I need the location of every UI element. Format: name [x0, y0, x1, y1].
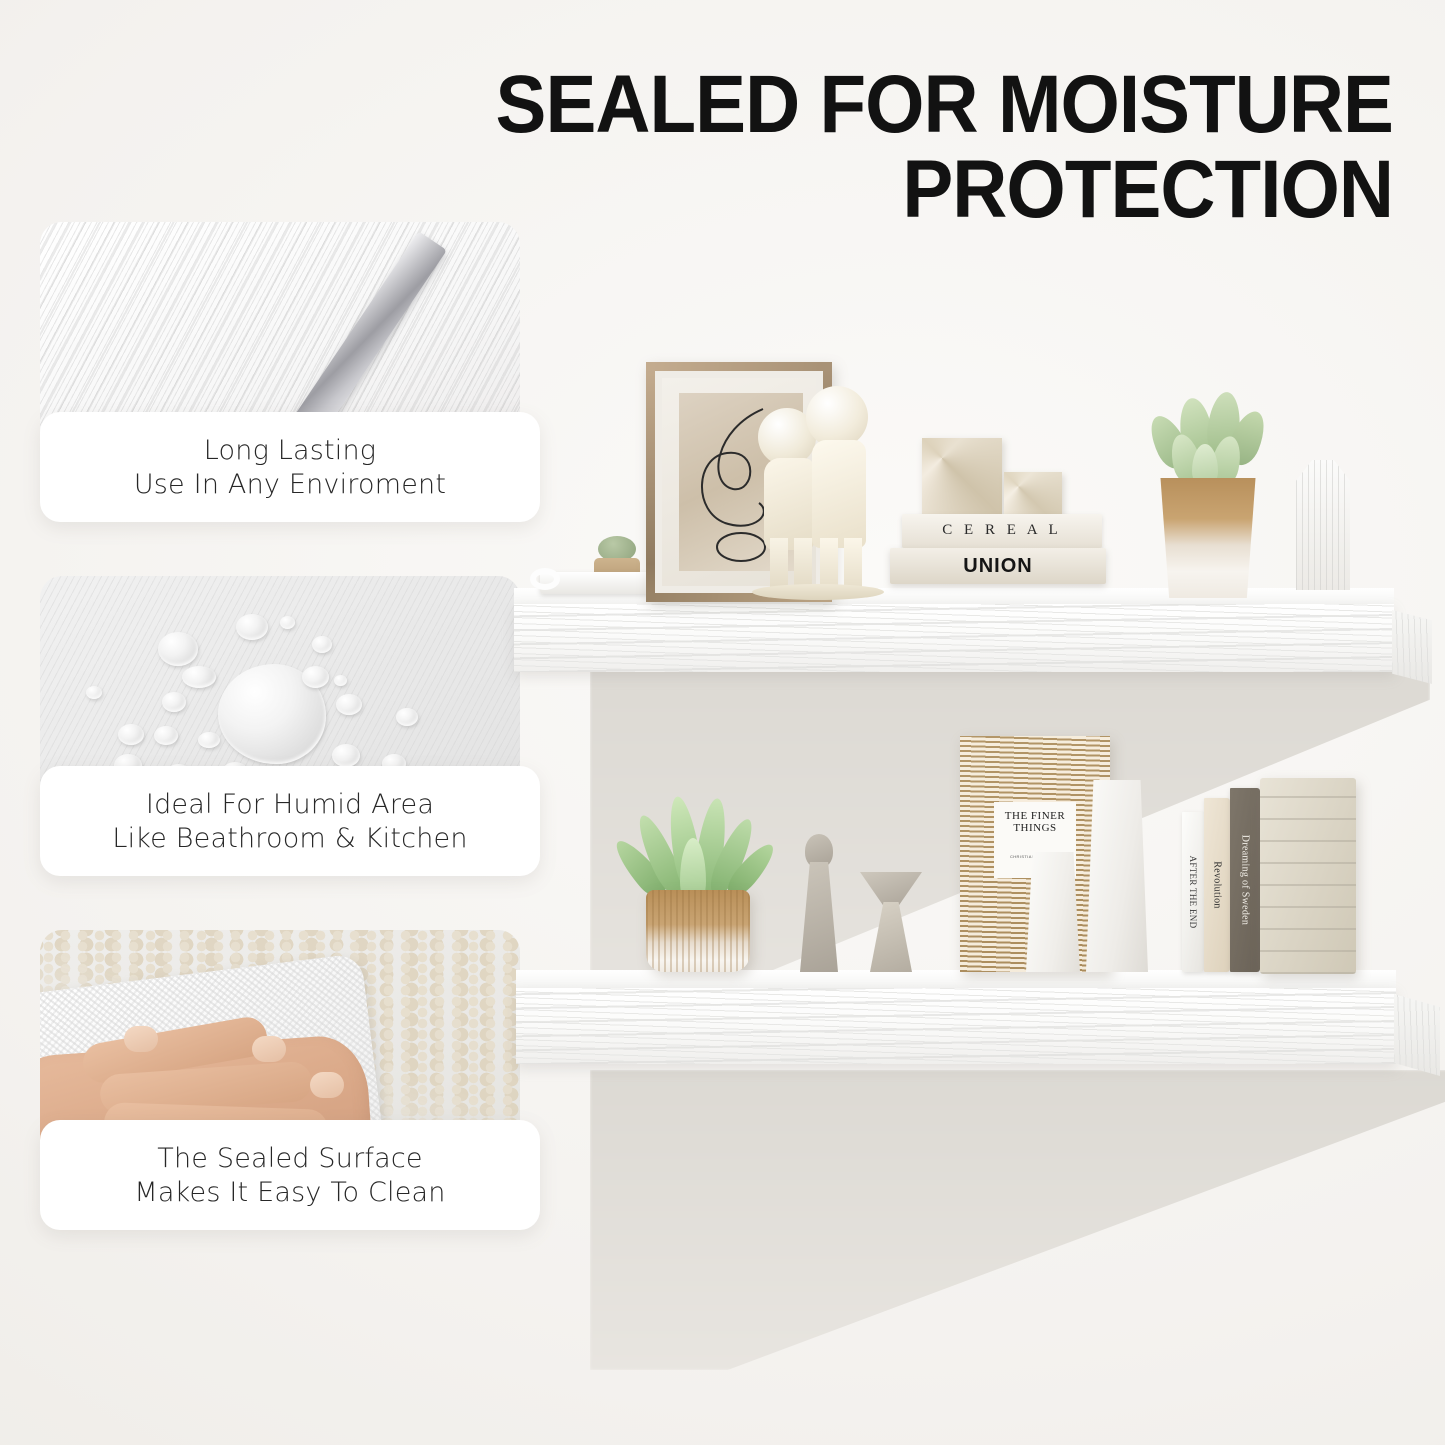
- stacked-book-cereal: C E R E A L: [902, 514, 1102, 548]
- book-title-line-1: THE FINER: [994, 810, 1076, 822]
- water-drop: [86, 686, 102, 699]
- feature-tile-easy-clean: The Sealed Surface Makes It Easy To Clea…: [40, 930, 520, 1230]
- water-drop: [312, 636, 332, 653]
- feature-tile-long-lasting: Long Lasting Use In Any Enviroment: [40, 222, 520, 522]
- fingernail: [252, 1036, 286, 1062]
- water-drop: [336, 694, 362, 715]
- ribbed-white-vase: [1296, 460, 1350, 590]
- feature-tile-humid-area: Ideal For Humid Area Like Beathroom & Ki…: [40, 576, 520, 876]
- product-infographic: SEALED FOR MOISTURE PROTECTION Long Last…: [0, 0, 1445, 1445]
- caption-line-1: Long Lasting: [50, 434, 530, 468]
- geometric-decor-block-large: [922, 438, 1002, 518]
- shelf-front-face: [514, 604, 1394, 672]
- feature-caption-card: The Sealed Surface Makes It Easy To Clea…: [40, 1120, 540, 1230]
- tall-candle-holder: [796, 834, 842, 972]
- textured-gold-pot: [646, 890, 750, 972]
- shelf-end-cap: [1392, 610, 1432, 684]
- succulent-in-gold-pot: [1136, 378, 1276, 590]
- book-title-cereal: C E R E A L: [902, 522, 1102, 539]
- caption-line-2: Use In Any Enviroment: [50, 468, 530, 502]
- short-white-cylinder-vase: [1026, 852, 1080, 972]
- water-drop: [280, 616, 295, 629]
- book-title-union: UNION: [890, 555, 1106, 578]
- book-spine-after: AFTER THE END: [1182, 812, 1204, 972]
- fingernail: [124, 1026, 158, 1052]
- gold-white-glazed-pot: [1154, 478, 1262, 598]
- shelf-scene: C E R E A L UNION: [470, 300, 1430, 1370]
- water-drop: [236, 614, 268, 640]
- headline-line-1: SEALED FOR MOISTURE: [463, 62, 1393, 147]
- lower-floating-shelf: [516, 970, 1396, 1066]
- agave-plant-in-textured-pot: [622, 790, 772, 972]
- water-drop: [182, 666, 216, 688]
- caption-line-1: The Sealed Surface: [50, 1142, 530, 1176]
- water-drop: [118, 724, 144, 745]
- water-drop: [396, 708, 418, 726]
- shelf-front-face: [516, 988, 1396, 1064]
- fingernail: [310, 1072, 344, 1098]
- book-spine-revolution: Revolution: [1204, 798, 1230, 972]
- book-spine-label: Revolution: [1212, 861, 1223, 908]
- tall-white-cylinder-vase: [1086, 780, 1148, 972]
- lower-shelf-shadow: [590, 1070, 1445, 1370]
- book-spine-dreaming: Dreaming of Sweden: [1230, 788, 1260, 972]
- page-title: SEALED FOR MOISTURE PROTECTION: [463, 62, 1393, 233]
- white-ring-object: [530, 568, 560, 590]
- water-drop: [198, 732, 220, 748]
- headline-line-2: PROTECTION: [463, 147, 1393, 232]
- book-title-line-2: THINGS: [994, 822, 1076, 834]
- cream-ribbed-volume: [1260, 778, 1356, 974]
- shelf-end-cap: [1394, 994, 1440, 1076]
- pearl-couple-figurine: [756, 378, 882, 590]
- caption-line-2: Like Beathroom & Kitchen: [50, 822, 530, 856]
- water-drop: [162, 692, 186, 712]
- caption-line-1: Ideal For Humid Area: [50, 788, 530, 822]
- book-spine-label: Dreaming of Sweden: [1240, 835, 1251, 925]
- caption-line-2: Makes It Easy To Clean: [50, 1176, 530, 1210]
- water-drop: [334, 675, 347, 686]
- book-spine-label: AFTER THE END: [1188, 856, 1198, 929]
- feature-caption-card: Ideal For Humid Area Like Beathroom & Ki…: [40, 766, 540, 876]
- water-drop: [302, 666, 329, 688]
- water-drop: [154, 726, 178, 745]
- water-drop: [158, 632, 198, 666]
- feature-tile-list: Long Lasting Use In Any Enviroment: [40, 222, 520, 1284]
- hourglass-candle-holder: [860, 872, 922, 972]
- water-drop: [332, 744, 360, 767]
- feature-caption-card: Long Lasting Use In Any Enviroment: [40, 412, 540, 522]
- stacked-book-union: UNION: [890, 548, 1106, 584]
